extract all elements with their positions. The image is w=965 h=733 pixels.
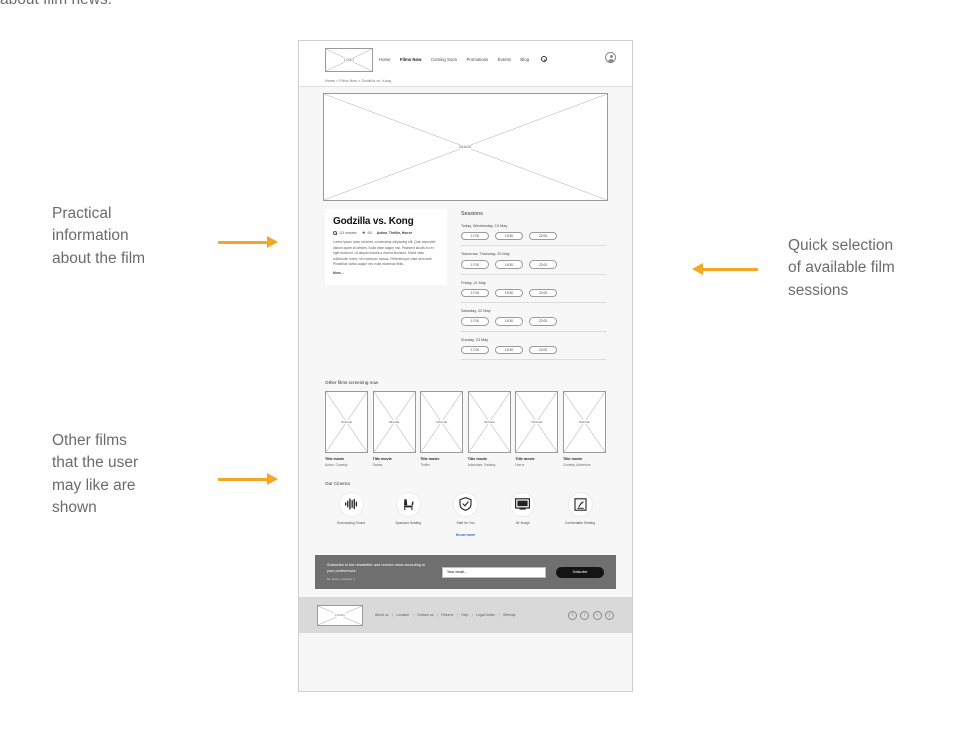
main-navigation: Home Films Now Coming Soon Promotions Ev…: [379, 56, 547, 62]
film-card[interactable]: IMAGE Title movie Horror: [515, 391, 558, 467]
film-and-sessions-row: Godzilla vs. Kong 113 minutes ★ 4/5 Acti…: [299, 209, 632, 366]
surround-sound-icon: [339, 492, 364, 517]
newsletter-banner: Subscribe to the newsletter and receive …: [315, 555, 616, 589]
film-duration-label: 113 minutes: [339, 231, 357, 235]
footer-link-contact-us[interactable]: Contact us: [417, 613, 433, 617]
session-date: Tomorrow, Thursday, 20 May: [461, 252, 606, 256]
session-date: Friday, 21 May: [461, 281, 606, 285]
feature-surrounding-sound[interactable]: Surrounding Sound: [325, 492, 377, 525]
clock-icon: [333, 231, 337, 235]
footer-separator: |: [413, 613, 414, 617]
feature-label: Surrounding Sound: [325, 521, 377, 525]
session-group: Friday, 21 May 17:00 19:30 22:00: [461, 281, 606, 303]
annotation-quick-selection: Quick selectionof available filmsessions: [788, 235, 953, 302]
film-poster-label: IMAGE: [340, 420, 353, 424]
session-time-button[interactable]: 17:00: [461, 260, 489, 268]
feature-safe-for-you[interactable]: Safe for You: [440, 492, 492, 525]
other-films-title: Other films screening now: [325, 380, 606, 385]
other-films-grid: IMAGE Title movie Action, Comedy IMAGE T…: [325, 391, 606, 467]
session-times: 17:00 19:30 22:00: [461, 289, 606, 297]
film-rating: ★ 4/5: [362, 231, 372, 235]
film-card-title: Title movie: [468, 457, 511, 461]
film-info-column: Godzilla vs. Kong 113 minutes ★ 4/5 Acti…: [325, 209, 447, 366]
film-card-genre: Horror: [515, 463, 558, 467]
film-card-genre: Drama: [373, 463, 416, 467]
breadcrumb: Home > Films Now > Godzilla vs. Kong: [299, 77, 632, 87]
hero-section: IMAGE: [299, 87, 632, 209]
session-time-button[interactable]: 22:00: [529, 232, 557, 240]
film-poster-placeholder: IMAGE: [420, 391, 463, 453]
film-rating-label: 4/5: [367, 231, 372, 235]
session-group: Tomorrow, Thursday, 20 May 17:00 19:30 2…: [461, 252, 606, 274]
footer-logo[interactable]: LOGO: [317, 605, 363, 626]
session-time-button[interactable]: 17:00: [461, 317, 489, 325]
film-poster-label: IMAGE: [388, 420, 401, 424]
site-logo[interactable]: LOGO: [325, 48, 373, 72]
newsletter-text: Subscribe to the newsletter and receive …: [327, 563, 432, 581]
film-card-title: Title movie: [420, 457, 463, 461]
footer-link-location[interactable]: Location: [396, 613, 409, 617]
session-time-button[interactable]: 22:00: [529, 289, 557, 297]
feature-label: Comfortable Seating: [554, 521, 606, 525]
session-times: 17:00 19:30 22:00: [461, 232, 606, 240]
our-cinema-title: Our Cinema: [325, 481, 606, 486]
screenshot-canvas: Practicalinformationabout the film Quick…: [0, 0, 965, 733]
film-card-genre: Action, Comedy: [325, 463, 368, 467]
footer-links: About us | Location | Contact us | Retur…: [375, 613, 556, 617]
other-films-section: Other films screening now IMAGE Title mo…: [299, 366, 632, 467]
film-card-title: Title movie: [325, 457, 368, 461]
session-date: Sunday, 23 May: [461, 338, 606, 342]
film-poster-label: IMAGE: [483, 420, 496, 424]
footer-link-legal-notice[interactable]: Legal Notice: [476, 613, 495, 617]
film-card-title: Title movie: [515, 457, 558, 461]
session-time-button[interactable]: 19:30: [495, 289, 523, 297]
film-poster-placeholder: IMAGE: [325, 391, 368, 453]
feature-label: Spacious Seating: [382, 521, 434, 525]
feature-spacious-seating[interactable]: Spacious Seating: [382, 492, 434, 525]
session-time-button[interactable]: 22:00: [529, 346, 557, 354]
film-info-card: Godzilla vs. Kong 113 minutes ★ 4/5 Acti…: [325, 209, 447, 285]
film-description: Lorem ipsum dolor sit amet, consectetur …: [333, 240, 439, 267]
session-times: 17:00 19:30 22:00: [461, 346, 606, 354]
sessions-title: Sessions: [461, 211, 606, 217]
film-genres: Action, Thriller, Horror: [377, 231, 412, 235]
film-poster-placeholder: IMAGE: [468, 391, 511, 453]
session-time-button[interactable]: 19:30: [495, 232, 523, 240]
film-card-title: Title movie: [563, 457, 606, 461]
newsletter-headline: Subscribe to the newsletter and receive …: [327, 563, 432, 574]
film-poster-label: IMAGE: [578, 420, 591, 424]
nav-item-blog[interactable]: Blog: [520, 57, 529, 62]
logo-label: LOGO: [343, 58, 355, 62]
nav-item-home[interactable]: Home: [379, 57, 390, 62]
feature-label: Safe for You: [440, 521, 492, 525]
newsletter-email-input[interactable]: Your email...: [442, 567, 546, 578]
film-title: Godzilla vs. Kong: [333, 216, 439, 227]
twitter-icon[interactable]: t: [580, 611, 589, 620]
screen-4k-icon: [510, 492, 535, 517]
session-group: Sunday, 23 May 17:00 19:30 22:00: [461, 338, 606, 360]
session-time-button[interactable]: 22:00: [529, 260, 557, 268]
hero-image-placeholder: IMAGE: [323, 93, 608, 201]
site-header: LOGO Home Films Now Coming Soon Promotio…: [299, 41, 632, 77]
session-time-button[interactable]: 22:00: [529, 317, 557, 325]
film-card[interactable]: IMAGE Title movie Action, Comedy: [325, 391, 368, 467]
film-card-title: Title movie: [373, 457, 416, 461]
session-time-button[interactable]: 17:00: [461, 232, 489, 240]
film-poster-placeholder: IMAGE: [373, 391, 416, 453]
film-card[interactable]: IMAGE Title movie Adventure, Fantasy: [468, 391, 511, 467]
nav-item-events[interactable]: Events: [498, 57, 511, 62]
newsletter-subtext: No spam, promise :): [327, 577, 432, 581]
session-group: Saturday, 22 May 17:00 19:30 22:00: [461, 309, 606, 331]
film-card[interactable]: IMAGE Title movie Comedy, Adventure: [563, 391, 606, 467]
annotation-practical-information: Practicalinformationabout the film: [52, 203, 202, 270]
session-time-button[interactable]: 17:00: [461, 289, 489, 297]
film-card-genre: Comedy, Adventure: [563, 463, 606, 467]
account-icon[interactable]: [605, 52, 616, 63]
film-poster-label: IMAGE: [435, 420, 448, 424]
film-card[interactable]: IMAGE Title movie Thriller: [420, 391, 463, 467]
site-footer: LOGO About us | Location | Contact us | …: [299, 597, 632, 633]
film-card[interactable]: IMAGE Title movie Drama: [373, 391, 416, 467]
session-date: Saturday, 22 May: [461, 309, 606, 313]
shield-check-icon: [453, 492, 478, 517]
film-meta: 113 minutes ★ 4/5 Action, Thriller, Horr…: [333, 231, 439, 235]
film-duration: 113 minutes: [333, 231, 357, 235]
session-time-button[interactable]: 19:30: [495, 317, 523, 325]
our-cinema-section: Our Cinema: [299, 467, 632, 547]
session-times: 17:00 19:30 22:00: [461, 317, 606, 325]
facebook-icon[interactable]: f: [568, 611, 577, 620]
session-times: 17:00 19:30 22:00: [461, 260, 606, 268]
annotation-clipped-label: about film news.: [0, 0, 170, 9]
session-group: Today, Wednesday, 19 May 17:00 19:30 22:…: [461, 224, 606, 246]
session-time-button[interactable]: 19:30: [495, 260, 523, 268]
footer-separator: |: [392, 613, 393, 617]
nav-item-coming-soon[interactable]: Coming Soon: [431, 57, 457, 62]
footer-link-returns[interactable]: Returns: [441, 613, 453, 617]
feature-label: 4K Image: [497, 521, 549, 525]
footer-socials: f t i y: [568, 611, 614, 620]
feature-comfortable-seating[interactable]: Comfortable Seating: [554, 492, 606, 525]
footer-link-sitemap[interactable]: Sitemap: [503, 613, 515, 617]
annotation-arrow-left-1: [692, 263, 758, 275]
footer-separator: |: [472, 613, 473, 617]
footer-link-about-us[interactable]: About us: [375, 613, 388, 617]
film-poster-placeholder: IMAGE: [563, 391, 606, 453]
film-genres-label: Action, Thriller, Horror: [377, 231, 412, 235]
instagram-icon[interactable]: i: [593, 611, 602, 620]
annotation-arrow-right-2: [218, 473, 278, 485]
film-more-link[interactable]: More...: [333, 271, 439, 275]
website-mockup-frame: LOGO Home Films Now Coming Soon Promotio…: [298, 40, 633, 692]
session-time-button[interactable]: 19:30: [495, 346, 523, 354]
film-card-genre: Adventure, Fantasy: [468, 463, 511, 467]
session-time-button[interactable]: 17:00: [461, 346, 489, 354]
newsletter-subscribe-button[interactable]: Subscribe: [556, 567, 604, 578]
nav-item-promotions[interactable]: Promotions: [467, 57, 489, 62]
recliner-icon: [568, 492, 593, 517]
footer-logo-label: LOGO: [334, 613, 346, 617]
seat-icon: [396, 492, 421, 517]
footer-separator: |: [437, 613, 438, 617]
film-card-genre: Thriller: [420, 463, 463, 467]
sessions-column: Sessions Today, Wednesday, 19 May 17:00 …: [461, 209, 606, 366]
nav-item-films-now[interactable]: Films Now: [400, 57, 422, 62]
search-icon[interactable]: [541, 56, 547, 62]
film-poster-placeholder: IMAGE: [515, 391, 558, 453]
our-cinema-features: Surrounding Sound: [325, 492, 606, 525]
film-poster-label: IMAGE: [530, 420, 543, 424]
footer-separator: |: [499, 613, 500, 617]
session-date: Today, Wednesday, 19 May: [461, 224, 606, 228]
annotation-clipped-text: about film news.: [0, 0, 170, 13]
feature-4k-image[interactable]: 4K Image: [497, 492, 549, 525]
know-more-link[interactable]: Know more: [325, 533, 606, 537]
star-icon: ★: [362, 231, 366, 235]
annotation-arrow-right-1: [218, 236, 278, 248]
footer-separator: |: [457, 613, 458, 617]
annotation-other-films: Other filmsthat the usermay like areshow…: [52, 430, 202, 520]
youtube-icon[interactable]: y: [605, 611, 614, 620]
hero-image-label: IMAGE: [458, 145, 473, 149]
footer-link-help[interactable]: Help: [461, 613, 468, 617]
